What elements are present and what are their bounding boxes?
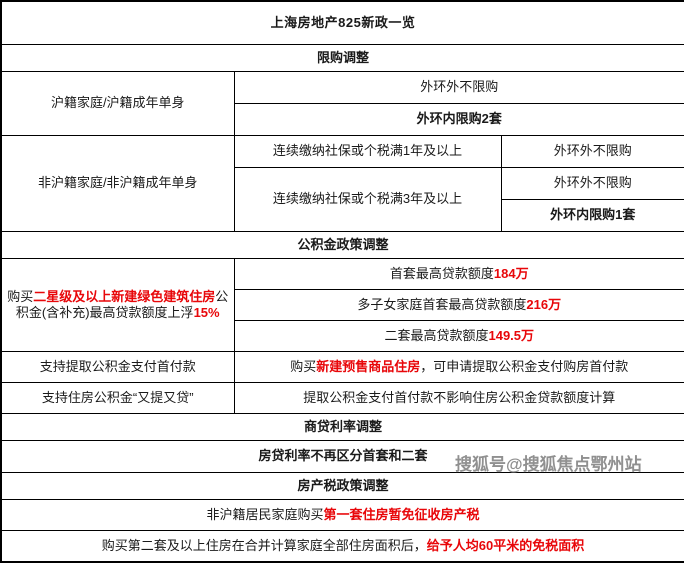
- loan-second-value: 149.5万: [488, 328, 534, 343]
- rowhead-withdraw-and-loan: 支持住房公积金“又提又贷”: [1, 383, 234, 414]
- downpayment-part1: 购买: [290, 359, 316, 374]
- section-row-commercial: 商贷利率调整: [1, 414, 684, 441]
- cell-nonhu-condition-3year-result-outer: 外环外不限购: [501, 168, 684, 200]
- green-label-part4: 15%: [194, 305, 220, 320]
- tax-row2-part2: 给予人均60平米的免税面积: [427, 538, 584, 553]
- section-row-purchase: 限购调整: [1, 45, 684, 72]
- policy-table: 上海房地产825新政一览 限购调整 沪籍家庭/沪籍成年单身 外环外不限购 外环内…: [0, 0, 684, 563]
- downpayment-part2: 新建预售商品住房: [316, 359, 420, 374]
- section-header-property-tax: 房产税政策调整: [1, 473, 684, 500]
- table-row: 房贷利率不再区分首套和二套: [1, 441, 684, 473]
- green-label-part1: 购买: [7, 289, 33, 304]
- cell-withdraw-downpayment: 购买新建预售商品住房，可申请提取公积金支付购房首付款: [234, 352, 684, 383]
- table-row: 购买第二套及以上住房在合并计算家庭全部住房面积后，给予人均60平米的免税面积: [1, 531, 684, 563]
- cell-tax-second-home-area: 购买第二套及以上住房在合并计算家庭全部住房面积后，给予人均60平米的免税面积: [1, 531, 684, 563]
- policy-table-page: 上海房地产825新政一览 限购调整 沪籍家庭/沪籍成年单身 外环外不限购 外环内…: [0, 0, 684, 483]
- section-row-tax: 房产税政策调整: [1, 473, 684, 500]
- cell-hu-outer-ring: 外环外不限购: [234, 72, 684, 104]
- cell-loan-second-home: 二套最高贷款额度149.5万: [234, 321, 684, 352]
- section-header-commercial-rate: 商贷利率调整: [1, 414, 684, 441]
- cell-mortgage-rate-unified: 房贷利率不再区分首套和二套: [1, 441, 684, 473]
- tax-row1-part1: 非沪籍居民家庭购买: [206, 507, 323, 522]
- section-header-purchase-restriction: 限购调整: [1, 45, 684, 72]
- cell-nonhu-condition-3year: 连续缴纳社保或个税满3年及以上: [234, 168, 501, 232]
- rowhead-green-building-loan: 购买二星级及以上新建绿色建筑住房公积金(含补充)最高贷款额度上浮15%: [1, 259, 234, 352]
- tax-row2-part1: 购买第二套及以上住房在合并计算家庭全部住房面积后，: [102, 538, 427, 553]
- table-row: 沪籍家庭/沪籍成年单身 外环外不限购: [1, 72, 684, 104]
- cell-nonhu-condition-1year: 连续缴纳社保或个税满1年及以上: [234, 136, 501, 168]
- loan-first-value: 184万: [494, 266, 529, 281]
- cell-nonhu-condition-1year-result: 外环外不限购: [501, 136, 684, 168]
- downpayment-part3: ，可申请提取公积金支付购房首付款: [420, 359, 628, 374]
- cell-loan-first-home: 首套最高贷款额度184万: [234, 259, 684, 290]
- section-row-fund: 公积金政策调整: [1, 232, 684, 259]
- cell-loan-multichild: 多子女家庭首套最高贷款额度216万: [234, 290, 684, 321]
- cell-tax-first-home-exempt: 非沪籍居民家庭购买第一套住房暂免征收房产税: [1, 500, 684, 531]
- table-row: 非沪籍居民家庭购买第一套住房暂免征收房产税: [1, 500, 684, 531]
- loan-multichild-prefix: 多子女家庭首套最高贷款额度: [357, 297, 526, 312]
- green-label-part2: 二星级及以上新建绿色建筑住房: [33, 289, 215, 304]
- table-title-row: 上海房地产825新政一览: [1, 1, 684, 45]
- loan-first-prefix: 首套最高贷款额度: [390, 266, 494, 281]
- rowhead-hu-household: 沪籍家庭/沪籍成年单身: [1, 72, 234, 136]
- cell-nonhu-condition-3year-result-inner: 外环内限购1套: [501, 200, 684, 232]
- rowhead-withdraw-downpayment: 支持提取公积金支付首付款: [1, 352, 234, 383]
- table-row: 购买二星级及以上新建绿色建筑住房公积金(含补充)最高贷款额度上浮15% 首套最高…: [1, 259, 684, 290]
- table-row: 支持提取公积金支付首付款 购买新建预售商品住房，可申请提取公积金支付购房首付款: [1, 352, 684, 383]
- table-row: 非沪籍家庭/非沪籍成年单身 连续缴纳社保或个税满1年及以上 外环外不限购: [1, 136, 684, 168]
- loan-second-prefix: 二套最高贷款额度: [384, 328, 488, 343]
- page-title: 上海房地产825新政一览: [1, 1, 684, 45]
- cell-hu-inner-ring: 外环内限购2套: [234, 104, 684, 136]
- rowhead-nonhu-household: 非沪籍家庭/非沪籍成年单身: [1, 136, 234, 232]
- section-header-housing-fund: 公积金政策调整: [1, 232, 684, 259]
- loan-multichild-value: 216万: [526, 297, 561, 312]
- cell-withdraw-and-loan: 提取公积金支付首付款不影响住房公积金贷款额度计算: [234, 383, 684, 414]
- table-row: 支持住房公积金“又提又贷” 提取公积金支付首付款不影响住房公积金贷款额度计算: [1, 383, 684, 414]
- tax-row1-part2: 第一套住房暂免征收房产税: [324, 507, 480, 522]
